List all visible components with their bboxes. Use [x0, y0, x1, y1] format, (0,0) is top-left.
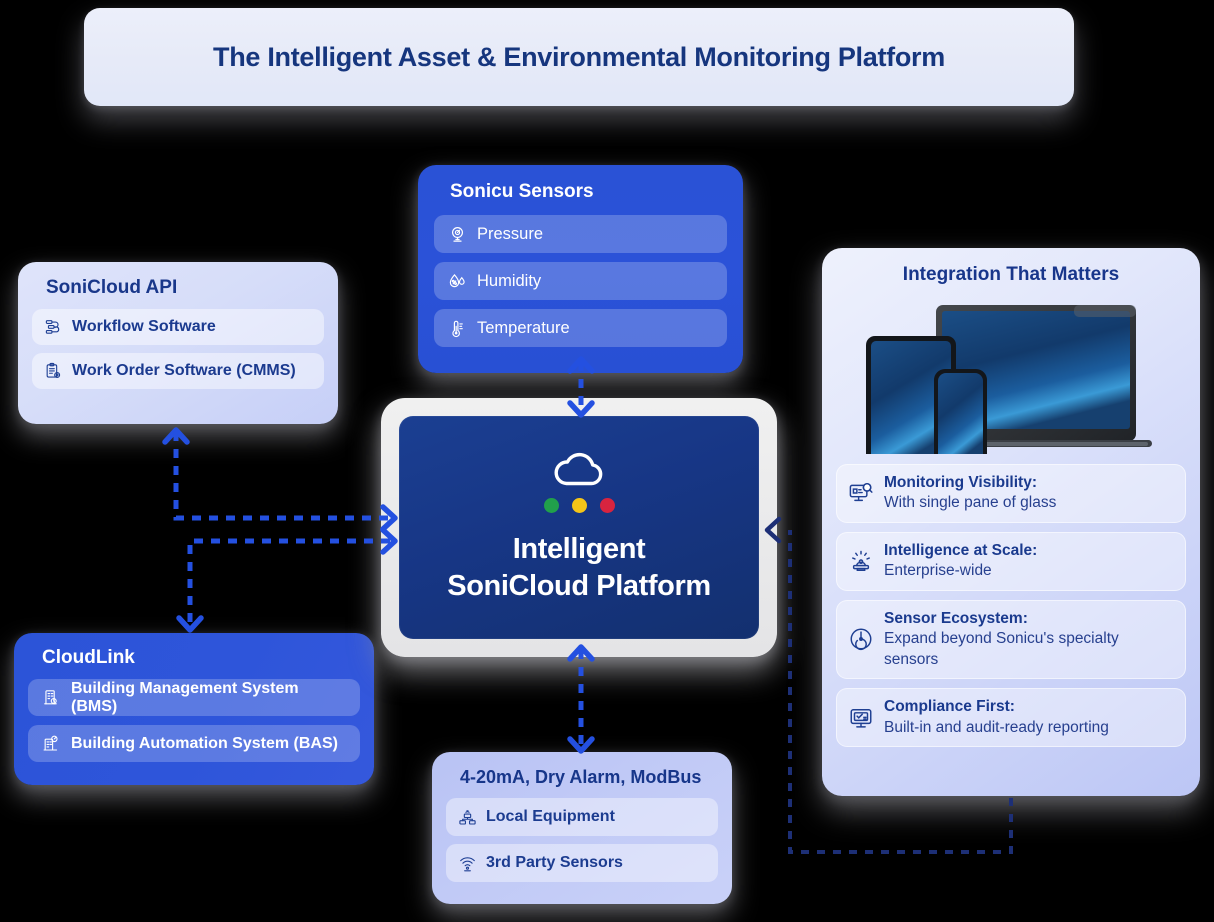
api-item-label: Workflow Software: [72, 318, 216, 336]
connector-api-to-platform: [165, 430, 395, 529]
cloudlink-card: CloudLink Building Management System (BM…: [14, 633, 374, 785]
feature-detail: Built-in and audit-ready reporting: [884, 718, 1109, 738]
pressure-gauge-icon: [448, 225, 467, 244]
thermometer-icon: [448, 319, 467, 338]
diagram-canvas: The Intelligent Asset & Environmental Mo…: [0, 0, 1214, 922]
sonicloud-api-heading: SoniCloud API: [46, 277, 324, 299]
integration-panel: Integration That Matters: [822, 248, 1200, 796]
humidity-drop-icon: [448, 272, 467, 291]
building-automation-icon: [42, 734, 61, 753]
status-dot-red: [600, 498, 615, 513]
radar-sensor-icon: [848, 626, 874, 652]
feature-text: Sensor Ecosystem: Expand beyond Sonicu's…: [884, 609, 1174, 670]
feature-compliance-first[interactable]: Compliance First: Built-in and audit-rea…: [836, 688, 1186, 747]
modbus-item-3rd-party-sensors[interactable]: 3rd Party Sensors: [446, 844, 718, 882]
building-management-icon: [42, 688, 61, 707]
cloudlink-item-bas[interactable]: Building Automation System (BAS): [28, 725, 360, 762]
status-dot-yellow: [572, 498, 587, 513]
modbus-heading: 4-20mA, Dry Alarm, ModBus: [460, 767, 718, 788]
alarm-beacon-icon: [848, 548, 874, 574]
platform-title-line1: Intelligent: [447, 531, 710, 568]
workflow-icon: [44, 318, 63, 337]
feature-heading: Intelligence at Scale:: [884, 541, 1037, 561]
sensor-item-temperature[interactable]: Temperature: [434, 309, 727, 347]
status-dot-green: [544, 498, 559, 513]
sensor-item-label: Pressure: [477, 225, 543, 244]
api-item-workflow-software[interactable]: Workflow Software: [32, 309, 324, 345]
modbus-item-label: 3rd Party Sensors: [486, 854, 623, 872]
feature-detail: Expand beyond Sonicu's specialty sensors: [884, 629, 1174, 670]
cloudlink-item-label: Building Management System (BMS): [71, 680, 346, 716]
feature-heading: Monitoring Visibility:: [884, 473, 1056, 493]
feature-heading: Sensor Ecosystem:: [884, 609, 1174, 629]
sonicu-sensors-card: Sonicu Sensors Pressure Humidity: [418, 165, 743, 373]
api-item-work-order-software[interactable]: Work Order Software (CMMS): [32, 353, 324, 389]
platform-title-line2: SoniCloud Platform: [447, 568, 710, 605]
modbus-item-label: Local Equipment: [486, 808, 615, 826]
sensor-item-humidity[interactable]: Humidity: [434, 262, 727, 300]
sensor-item-pressure[interactable]: Pressure: [434, 215, 727, 253]
clipboard-gear-icon: [44, 362, 63, 381]
cloud-icon: [551, 450, 607, 490]
feature-monitoring-visibility[interactable]: Monitoring Visibility: With single pane …: [836, 464, 1186, 523]
monitor-search-icon: [848, 480, 874, 506]
sensor-item-label: Humidity: [477, 272, 541, 291]
sonicloud-api-card: SoniCloud API Workflow Software Work Ord…: [18, 262, 338, 424]
cloudlink-item-label: Building Automation System (BAS): [71, 735, 338, 753]
cloudlink-heading: CloudLink: [42, 647, 360, 669]
cloud-icon-wrap: [551, 450, 607, 490]
sensor-item-label: Temperature: [477, 319, 570, 338]
feature-sensor-ecosystem[interactable]: Sensor Ecosystem: Expand beyond Sonicu's…: [836, 600, 1186, 679]
cloudlink-item-bms[interactable]: Building Management System (BMS): [28, 679, 360, 716]
status-dots: [544, 498, 615, 513]
integration-panel-heading: Integration That Matters: [836, 264, 1186, 286]
laptop-tablet-phone-mockup: [836, 292, 1186, 454]
sonicu-sensors-heading: Sonicu Sensors: [450, 181, 727, 203]
page-title-banner: The Intelligent Asset & Environmental Mo…: [84, 8, 1074, 106]
wireless-sensor-icon: [458, 854, 477, 873]
feature-detail: Enterprise-wide: [884, 561, 1037, 581]
api-item-label: Work Order Software (CMMS): [72, 362, 296, 380]
page-title: The Intelligent Asset & Environmental Mo…: [213, 42, 945, 73]
platform-title: Intelligent SoniCloud Platform: [447, 531, 710, 605]
compliance-monitor-icon: [848, 705, 874, 731]
feature-detail: With single pane of glass: [884, 493, 1056, 513]
local-equipment-icon: [458, 808, 477, 827]
platform-frame: Intelligent SoniCloud Platform: [381, 398, 777, 657]
modbus-card: 4-20mA, Dry Alarm, ModBus Local Equipmen…: [432, 752, 732, 904]
feature-heading: Compliance First:: [884, 697, 1109, 717]
connector-platform-to-modbus: [570, 647, 592, 751]
feature-text: Compliance First: Built-in and audit-rea…: [884, 697, 1109, 738]
modbus-item-local-equipment[interactable]: Local Equipment: [446, 798, 718, 836]
feature-text: Intelligence at Scale: Enterprise-wide: [884, 541, 1037, 582]
feature-intelligence-at-scale[interactable]: Intelligence at Scale: Enterprise-wide: [836, 532, 1186, 591]
intelligent-sonicloud-platform-card[interactable]: Intelligent SoniCloud Platform: [399, 416, 759, 639]
feature-text: Monitoring Visibility: With single pane …: [884, 473, 1056, 514]
connector-cloudlink-to-platform: [179, 530, 395, 630]
